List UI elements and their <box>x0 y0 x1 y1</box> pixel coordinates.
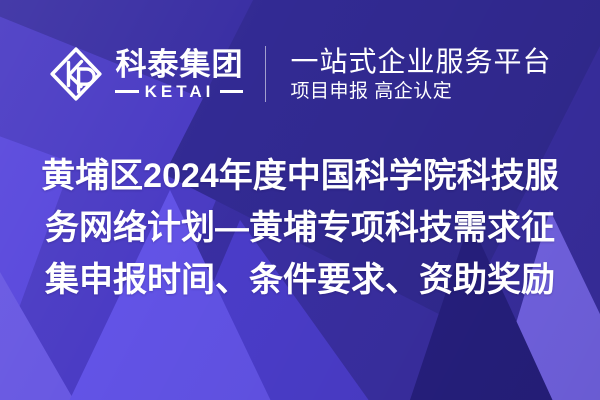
slogan-sub-text: 项目申报 高企认定 <box>290 82 551 101</box>
headline-line-2: 务网络计划—黄埔专项科技需求征 <box>14 202 586 254</box>
brand-wordmark: 科泰集团 KETAI <box>115 49 243 100</box>
slogan-block: 一站式企业服务平台 项目申报 高企认定 <box>266 48 551 101</box>
brand-lockup: 科泰集团 KETAI <box>48 45 265 103</box>
promo-banner: 科泰集团 KETAI 一站式企业服务平台 项目申报 高企认定 黄埔区2024年度… <box>0 0 600 400</box>
banner-header: 科泰集团 KETAI 一站式企业服务平台 项目申报 高企认定 <box>0 32 600 116</box>
brand-name-cn: 科泰集团 <box>115 49 243 80</box>
headline-line-1: 黄埔区2024年度中国科学院科技服 <box>14 150 586 202</box>
slogan-main-text: 一站式企业服务平台 <box>290 48 551 76</box>
brand-name-en: KETAI <box>145 83 215 100</box>
headline-line-3: 集申报时间、条件要求、资助奖励 <box>14 254 586 306</box>
ketai-diamond-kt-logo-icon <box>48 45 104 103</box>
banner-headline: 黄埔区2024年度中国科学院科技服 务网络计划—黄埔专项科技需求征 集申报时间、… <box>0 150 600 306</box>
brand-rule-right <box>220 90 243 93</box>
brand-rule-left <box>115 90 138 93</box>
brand-name-en-row: KETAI <box>115 83 243 100</box>
